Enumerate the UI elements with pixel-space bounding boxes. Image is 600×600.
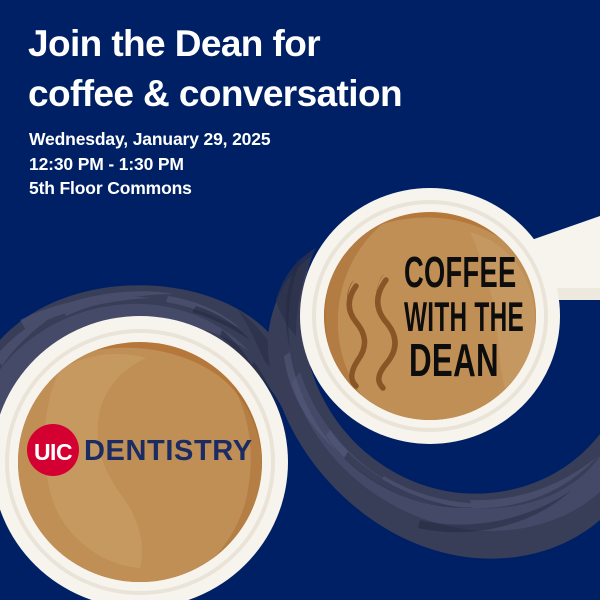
- lockup-line-1: COFFEE: [404, 247, 516, 296]
- lockup-line-2: WITH THE: [404, 294, 524, 340]
- flyer-canvas: COFFEE WITH THE DEAN UIC: [0, 0, 600, 600]
- flyer-artwork: COFFEE WITH THE DEAN UIC: [0, 0, 600, 600]
- uic-badge-text: UIC: [34, 439, 72, 465]
- dentistry-wordmark: DENTISTRY: [84, 435, 253, 467]
- lockup-line-3: DEAN: [409, 335, 499, 386]
